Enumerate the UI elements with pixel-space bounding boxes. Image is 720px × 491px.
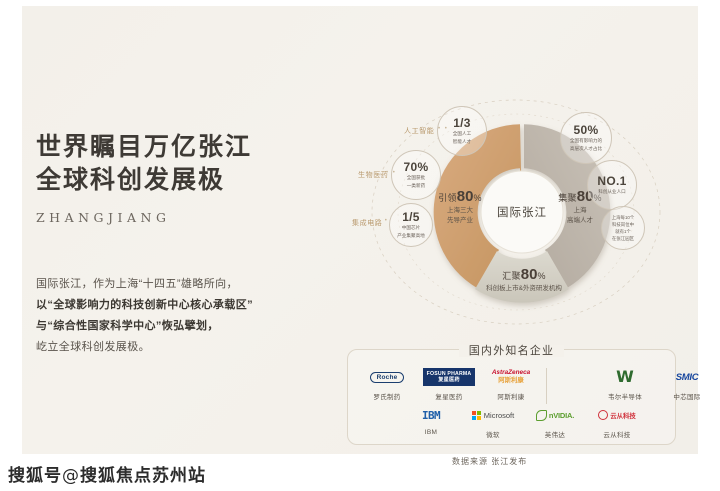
company-microsoft: Microsoft 微软	[462, 404, 524, 439]
company-cloudwalk: 云从科技 云从科技	[586, 404, 648, 439]
bubble-chip-cluster: 1/5 中国芯片 产业集聚高地	[389, 203, 433, 247]
bubble-10-desc4: 在张江园区	[609, 236, 637, 242]
cloudwalk-logo: 云从科技	[598, 404, 636, 426]
headline-line-2: 全球科创发展极	[36, 163, 286, 196]
companies-panel: 国内外知名企业 Roche 罗氏制药 FOSUN PHARMA复星医药 复星医药…	[347, 349, 676, 445]
companies-row-1: Roche 罗氏制药 FOSUN PHARMA复星医药 复星医药 AstraZe…	[356, 366, 720, 401]
company-astrazeneca: AstraZeneca阿斯利康 阿斯利康	[480, 366, 542, 401]
bubble-ai-desc1: 全国人工	[450, 131, 474, 137]
company-nvidia-label: 英伟达	[545, 429, 565, 439]
microsoft-squares-icon	[472, 411, 481, 420]
body-line-4: 屹立全球科创发展极。	[36, 337, 286, 358]
ibm-logo: IBM	[422, 404, 440, 426]
bubble-50-desc1: 全国有影响力的	[567, 138, 605, 144]
bubble-50-value: 50%	[574, 124, 599, 137]
nvidia-eye-icon	[536, 410, 547, 421]
company-roche: Roche 罗氏制药	[356, 366, 418, 401]
watermark-at: @	[62, 466, 80, 486]
infographic-page: 世界瞩目万亿张江 全球科创发展极 ZHANGJIANG 国际张江，作为上海“十四…	[0, 0, 720, 491]
hero-text-block: 世界瞩目万亿张江 全球科创发展极 ZHANGJIANG 国际张江，作为上海“十四…	[36, 130, 286, 358]
astrazeneca-logo: AstraZeneca阿斯利康	[492, 366, 530, 388]
bubble-10-desc2: 科技岗位中	[609, 222, 637, 228]
connector-dots-ic: • •	[378, 218, 388, 224]
company-willsemi: W 韦尔半导体	[594, 366, 656, 401]
bubble-70-desc1: 全国获批	[404, 175, 428, 181]
bubble-10-desc1: 上海每10个	[609, 215, 637, 221]
bubble-10-desc3: 就有1个	[612, 229, 634, 235]
body-line-2: 以“全球影响力的科技创新中心核心承载区”	[36, 295, 286, 316]
bubble-ai-value: 1/3	[453, 117, 471, 130]
companies-row-2: IBM IBM Microsoft 微软 nVIDIA.	[400, 404, 648, 439]
nvidia-logo: nVIDIA.	[536, 404, 574, 426]
bubble-15-desc2: 产业集聚高地	[394, 233, 428, 239]
willsemi-logo: W	[616, 366, 634, 388]
bubble-50-desc2: 高层次人才占比	[567, 146, 605, 152]
tag-artificial-intelligence: 人工智能	[404, 126, 434, 136]
watermark: 搜狐号@搜狐焦点苏州站	[8, 461, 206, 486]
company-fosun: FOSUN PHARMA复星医药 复星医药	[418, 366, 480, 401]
company-roche-label: 罗氏制药	[373, 391, 400, 401]
bubble-no1-desc1: 科创从业人口	[595, 189, 629, 195]
body-line-1: 国际张江，作为上海“十四五”雄略所向，	[36, 274, 286, 295]
bubble-70-value: 70%	[404, 161, 429, 174]
headline-line-1: 世界瞩目万亿张江	[36, 132, 252, 161]
data-source-note: 数据来源 张江发布	[452, 456, 527, 467]
connector-dots-bio: • •	[386, 170, 396, 176]
connector-dots-ai: • •	[438, 126, 448, 132]
watermark-prefix: 搜狐号	[8, 466, 62, 486]
smic-logo: SMIC	[676, 366, 699, 388]
companies-title: 国内外知名企业	[459, 345, 564, 357]
companies-title-wrap: 国内外知名企业	[348, 341, 675, 359]
company-willsemi-label: 韦尔半导体	[608, 391, 642, 401]
company-microsoft-label: 微软	[486, 429, 500, 439]
bubble-15-desc1: 中国芯片	[399, 225, 423, 231]
company-ibm-label: IBM	[425, 429, 437, 436]
body-line-3: 与“综合性国家科学中心”恢弘擘划，	[36, 316, 286, 337]
bubble-70-desc2: 一类新药	[404, 183, 428, 189]
company-smic: SMIC 中芯国际	[656, 366, 718, 401]
roche-logo: Roche	[370, 366, 405, 388]
company-ibm: IBM IBM	[400, 404, 462, 436]
company-smic-label: 中芯国际	[673, 391, 700, 401]
company-cloudwalk-label: 云从科技	[603, 429, 630, 439]
bubble-no1-workforce: NO.1 科创从业人口	[587, 160, 637, 210]
company-astrazeneca-label: 阿斯利康	[497, 391, 524, 401]
bubble-tech-jobs: 上海每10个 科技岗位中 就有1个 在张江园区	[601, 206, 645, 250]
company-nvidia: nVIDIA. 英伟达	[524, 404, 586, 439]
cloudwalk-circle-icon	[598, 410, 608, 420]
bubble-15-value: 1/5	[402, 211, 420, 224]
watermark-suffix: 搜狐焦点苏州站	[80, 466, 206, 486]
tag-biomedicine: 生物医药	[358, 170, 388, 180]
page-title: 世界瞩目万亿张江 全球科创发展极	[36, 130, 286, 196]
fosun-logo: FOSUN PHARMA复星医药	[423, 366, 476, 388]
donut-center-label: 国际张江	[480, 196, 564, 228]
bubble-ai-desc2: 智能人才	[450, 139, 474, 145]
bubble-no1-value: NO.1	[597, 175, 626, 188]
company-fosun-label: 复星医药	[435, 391, 462, 401]
pinyin-subtitle: ZHANGJIANG	[36, 210, 286, 225]
hero-body-copy: 国际张江，作为上海“十四五”雄略所向， 以“全球影响力的科技创新中心核心承载区”…	[36, 274, 286, 358]
microsoft-logo: Microsoft	[472, 404, 514, 426]
bubble-high-level-talent: 50% 全国有影响力的 高层次人才占比	[560, 112, 612, 164]
bubble-new-drugs: 70% 全国获批 一类新药	[391, 150, 441, 200]
